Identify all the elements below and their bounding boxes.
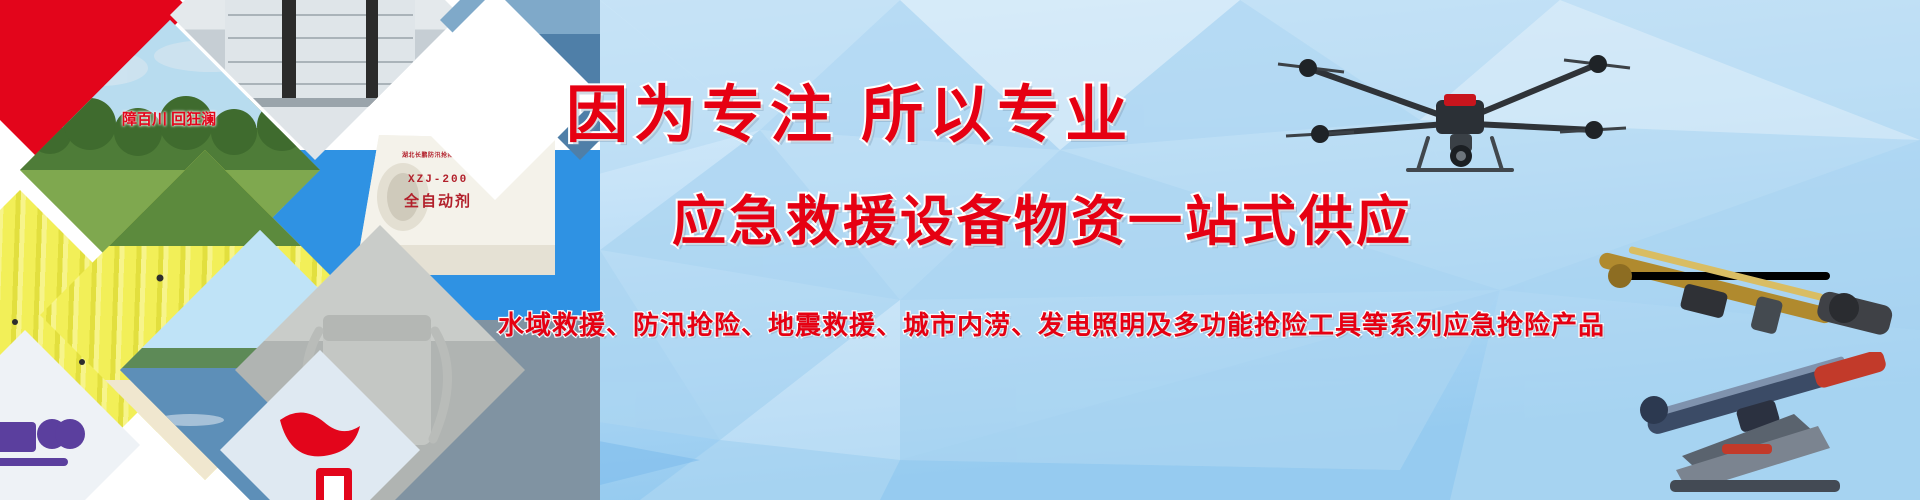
promo-banner: 障百川 回狂澜 [0, 0, 1920, 500]
machine-model-label: XZJ-200 [408, 174, 468, 186]
banner-subtitle: 水域救援、防汛抢险、地震救援、城市内涝、发电照明及多功能抢险工具等系列应急抢险产… [498, 305, 1605, 342]
headline-sub: 应急救援设备物资一站式供应 [672, 177, 1413, 256]
rescue-drone-icon [1268, 38, 1648, 188]
headline-main: 因为专注 所以专业 [566, 64, 1133, 154]
water-rescue-launcher-icon [1618, 352, 1918, 500]
flood-barrier-caption: 障百川 回狂澜 [122, 108, 216, 129]
product-collage: 障百川 回狂澜 [0, 0, 600, 500]
machine-function-label: 全自动剂 [404, 190, 472, 211]
